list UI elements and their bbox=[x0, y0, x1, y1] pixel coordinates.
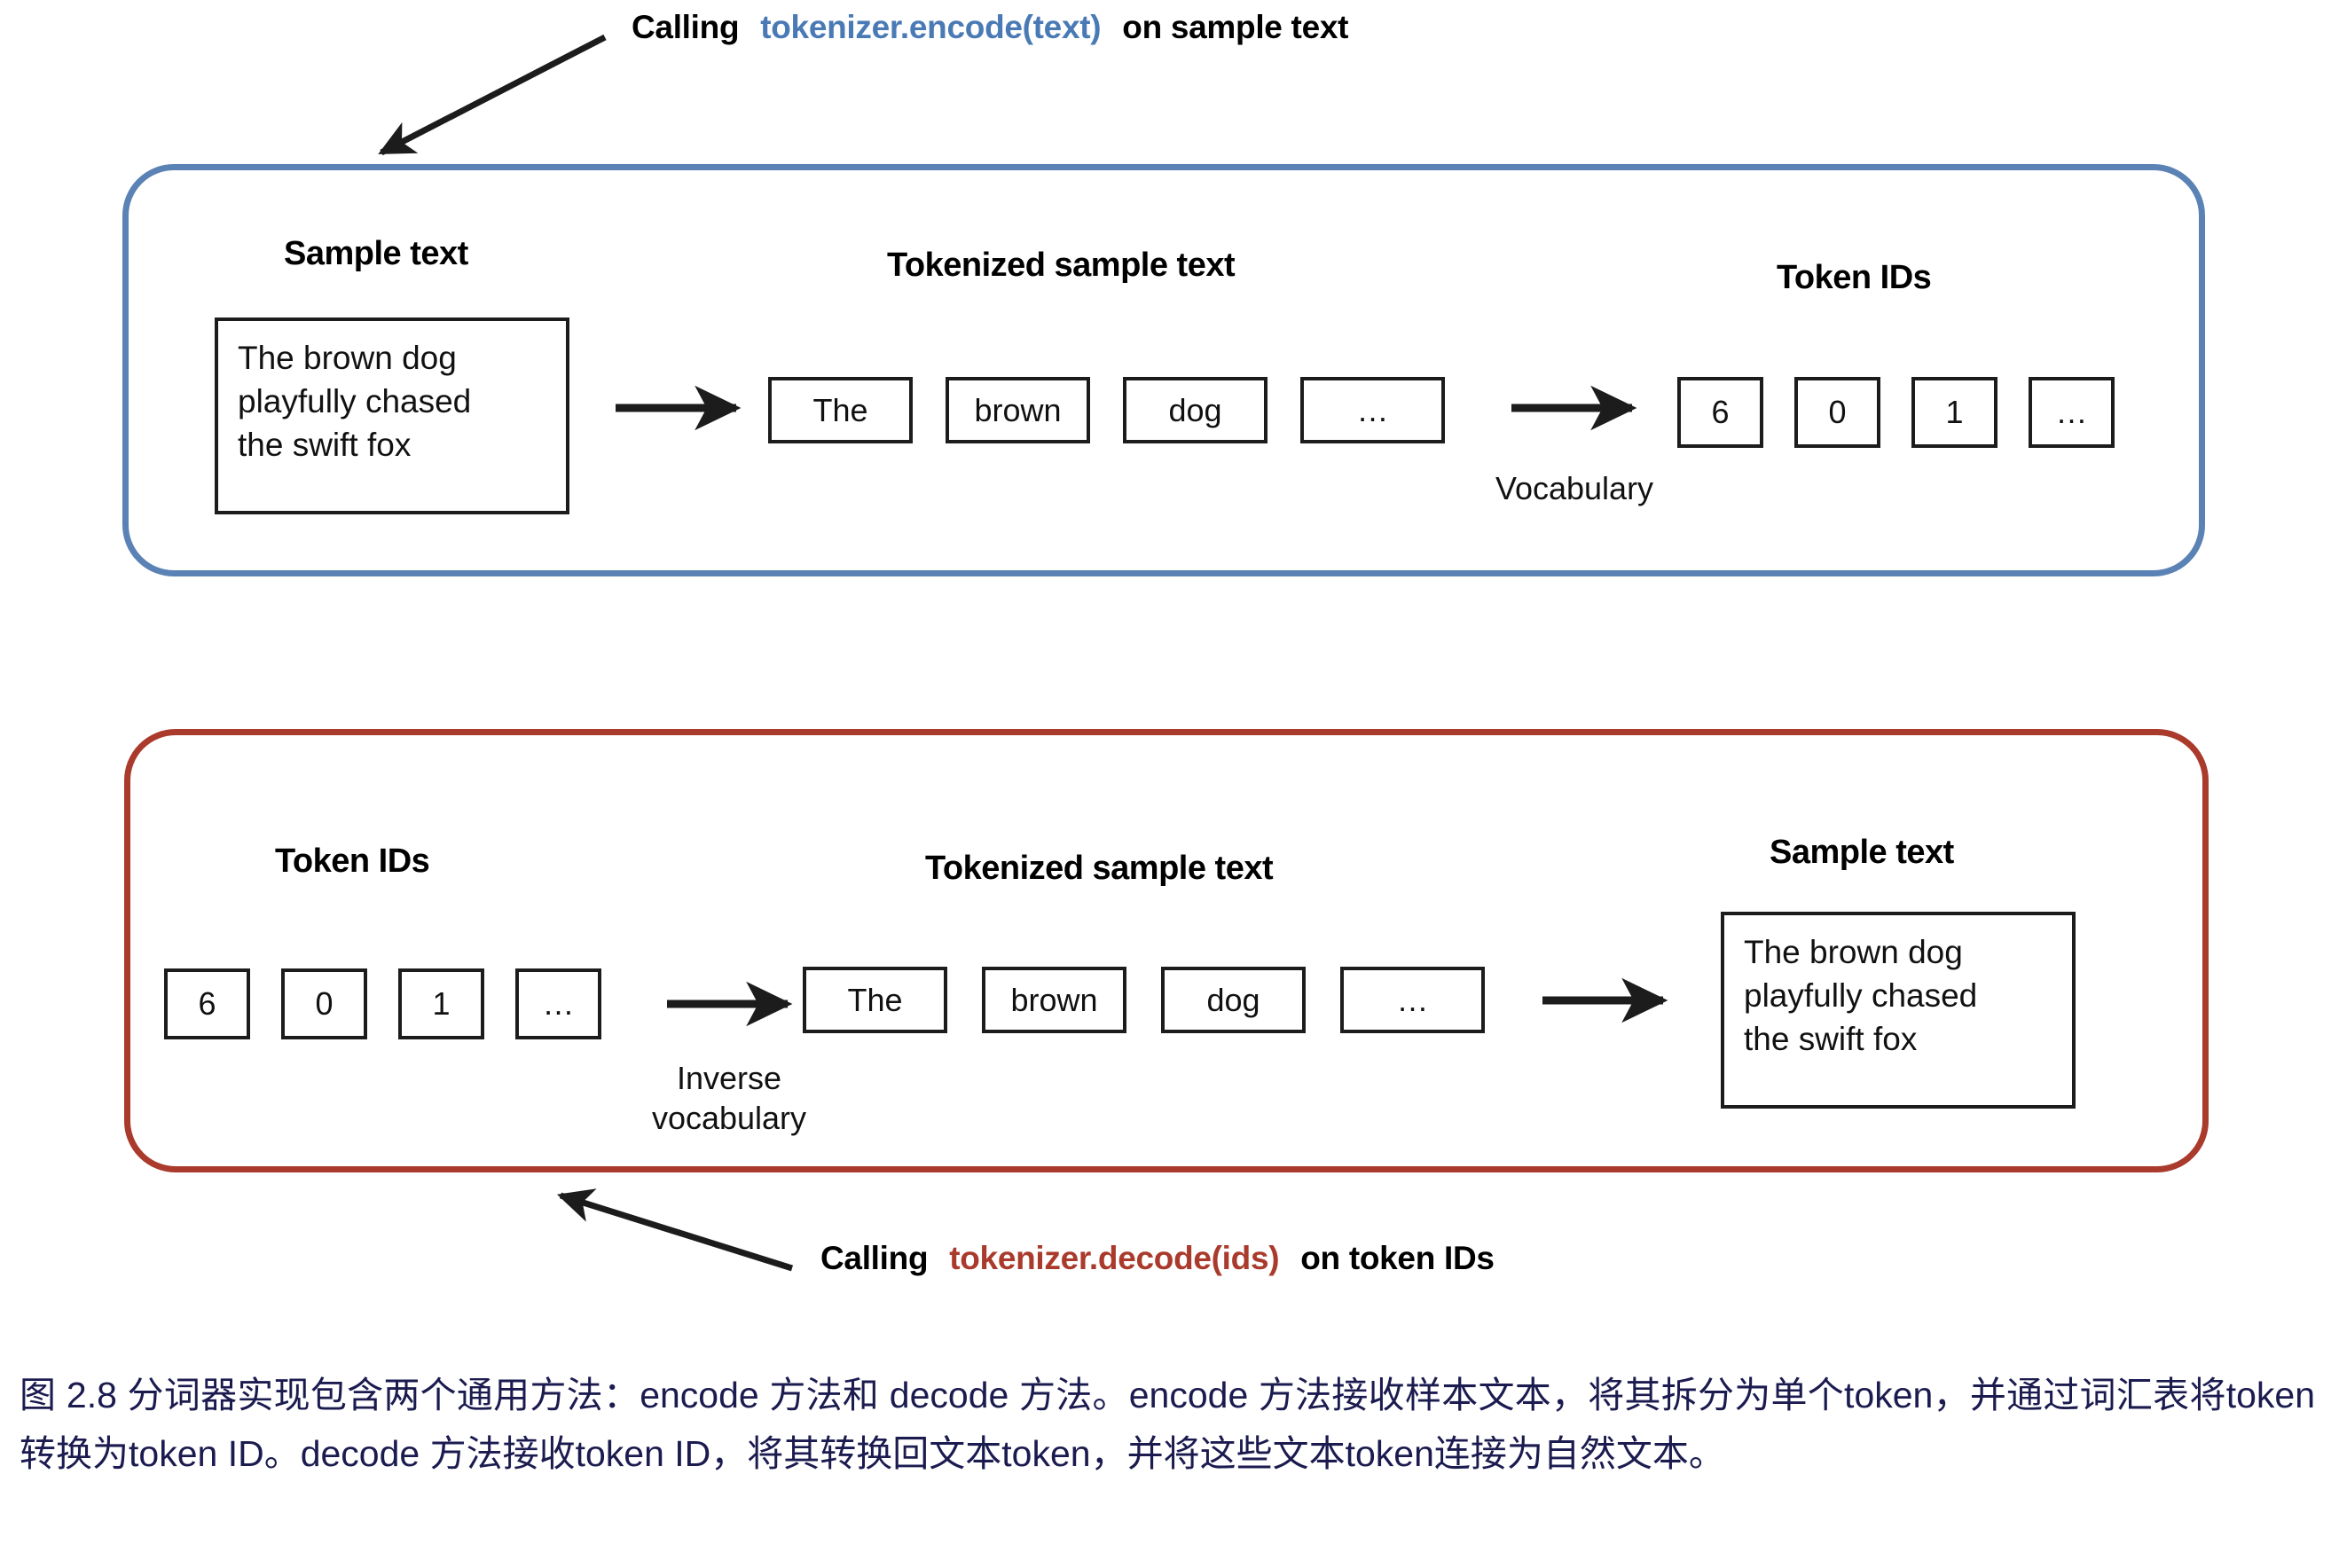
decode-token-id-box: … bbox=[515, 968, 601, 1039]
decode-token-box: The bbox=[803, 967, 947, 1033]
encode-token-box: … bbox=[1300, 377, 1445, 443]
decode-sample-text-line-2: playfully chased bbox=[1744, 975, 2054, 1018]
decode-callout-prefix: Calling bbox=[820, 1240, 928, 1276]
decode-token-box: dog bbox=[1161, 967, 1306, 1033]
decode-token-id-box: 6 bbox=[164, 968, 250, 1039]
decode-callout-suffix: on token IDs bbox=[1300, 1240, 1494, 1276]
encode-sample-text-box: The brown dog playfully chased the swift… bbox=[215, 318, 569, 514]
encode-callout-prefix: Calling bbox=[632, 9, 739, 45]
decode-sample-text-line-3: the swift fox bbox=[1744, 1018, 2054, 1062]
decode-detokenize-arrow bbox=[1539, 983, 1707, 1018]
encode-token-id-box: 1 bbox=[1911, 377, 1997, 448]
encode-sample-text-line-1: The brown dog bbox=[238, 337, 548, 380]
decode-tokenized-heading: Tokenized sample text bbox=[925, 850, 1273, 888]
decode-token-box: … bbox=[1340, 967, 1485, 1033]
encode-vocabulary-label: Vocabulary bbox=[1450, 468, 1699, 508]
decode-token-box: brown bbox=[982, 967, 1126, 1033]
decode-sample-text-line-1: The brown dog bbox=[1744, 931, 2054, 975]
encode-callout: Calling tokenizer.encode(text) on sample… bbox=[632, 9, 1348, 46]
encode-tokenized-heading: Tokenized sample text bbox=[887, 247, 1235, 285]
encode-sample-text-line-3: the swift fox bbox=[238, 424, 548, 467]
encode-sample-text-heading: Sample text bbox=[284, 235, 468, 273]
encode-callout-code: tokenizer.encode(text) bbox=[748, 9, 1113, 45]
decode-inverse-vocabulary-label: Inverse vocabulary bbox=[596, 1058, 862, 1138]
decode-token-id-box: 1 bbox=[398, 968, 484, 1039]
encode-token-id-box: 6 bbox=[1677, 377, 1763, 448]
decode-callout-arrow bbox=[541, 1180, 834, 1295]
decode-callout: Calling tokenizer.decode(ids) on token I… bbox=[820, 1240, 1495, 1277]
encode-tokenize-arrow bbox=[612, 390, 772, 426]
decode-token-id-box: 0 bbox=[281, 968, 367, 1039]
figure-caption: 图 2.8 分词器实现包含两个通用方法：encode 方法和 decode 方法… bbox=[20, 1366, 2315, 1484]
encode-sample-text-line-2: playfully chased bbox=[238, 380, 548, 424]
encode-token-box: dog bbox=[1123, 377, 1268, 443]
decode-callout-code: tokenizer.decode(ids) bbox=[937, 1240, 1291, 1276]
decode-token-ids-heading: Token IDs bbox=[275, 843, 429, 881]
encode-token-id-box: 0 bbox=[1794, 377, 1880, 448]
decode-sample-text-heading: Sample text bbox=[1770, 834, 1954, 872]
encode-token-box: brown bbox=[946, 377, 1090, 443]
encode-token-id-box: … bbox=[2029, 377, 2115, 448]
encode-callout-suffix: on sample text bbox=[1122, 9, 1348, 45]
encode-vocabulary-arrow bbox=[1508, 390, 1676, 426]
encode-token-box: The bbox=[768, 377, 913, 443]
encode-token-ids-heading: Token IDs bbox=[1777, 259, 1931, 297]
decode-sample-text-box: The brown dog playfully chased the swift… bbox=[1721, 912, 2076, 1109]
encode-callout-arrow bbox=[355, 18, 621, 173]
